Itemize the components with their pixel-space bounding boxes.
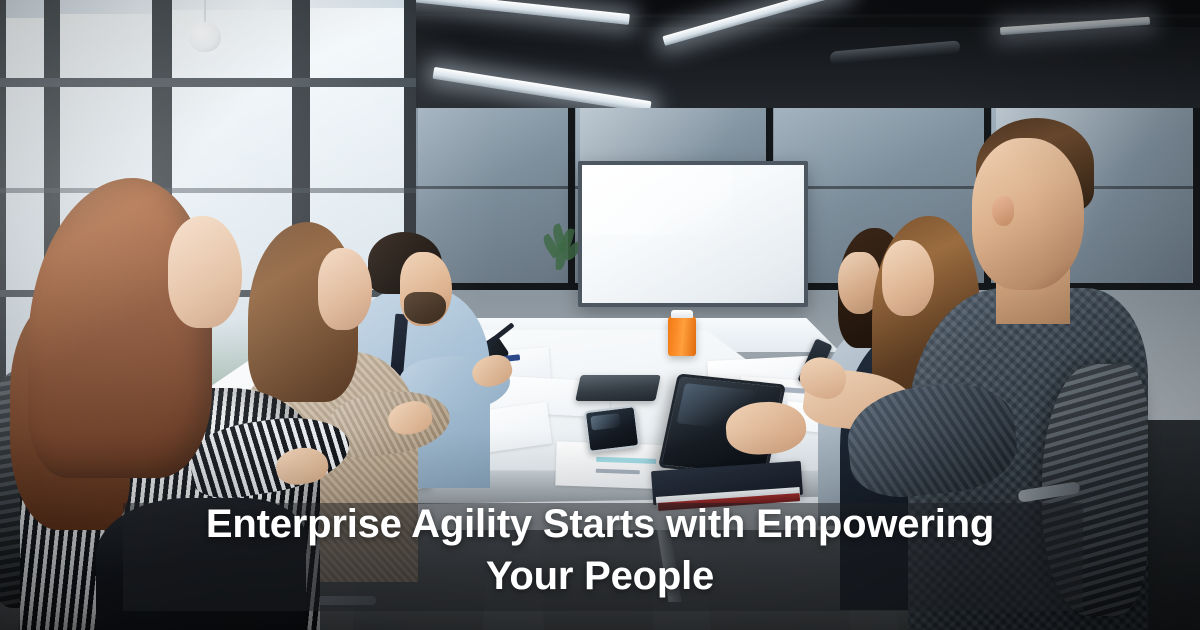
- headline-block: Enterprise Agility Starts with Empowerin…: [0, 498, 1200, 602]
- smartphone: [584, 405, 641, 453]
- headline-line-1: Enterprise Agility Starts with Empowerin…: [0, 498, 1200, 550]
- hero-banner: Enterprise Agility Starts with Empowerin…: [0, 0, 1200, 630]
- laptop: [575, 375, 661, 401]
- water-bottle-cap: [671, 310, 693, 318]
- pendant-lamp-icon: [189, 22, 221, 52]
- duct-icon-2: [830, 40, 960, 64]
- whiteboard-surface: [582, 165, 804, 303]
- ceiling-light-2: [432, 67, 651, 108]
- water-bottle: [668, 316, 696, 356]
- headline-line-2: Your People: [0, 550, 1200, 602]
